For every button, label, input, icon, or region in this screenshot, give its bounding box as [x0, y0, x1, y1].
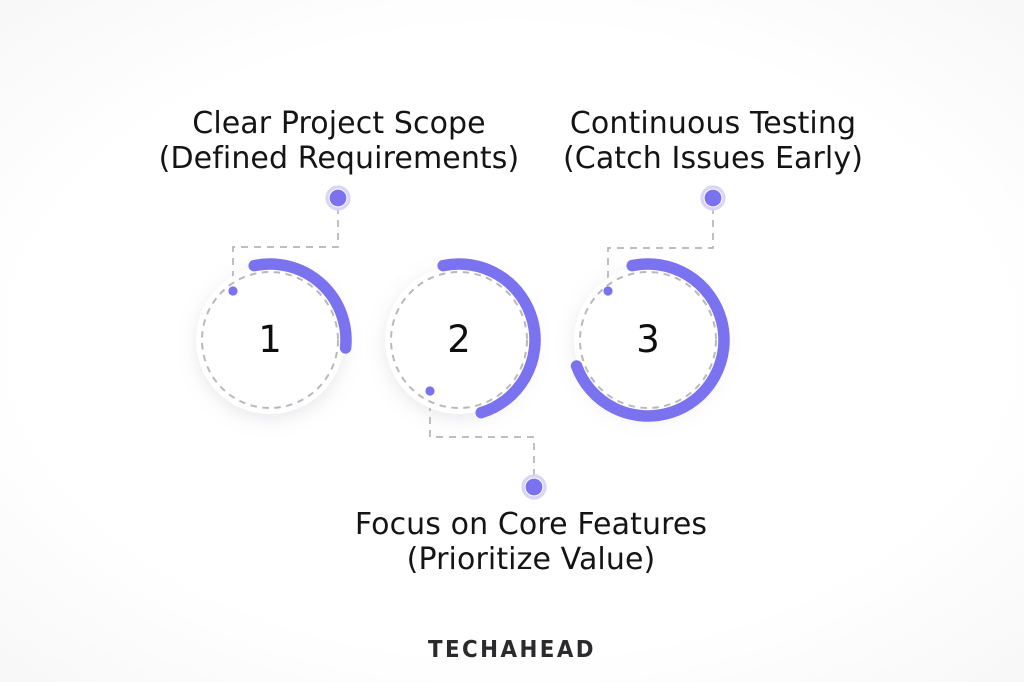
step-label-3-line2: (Catch Issues Early): [201, 141, 1024, 176]
anchor-dot-3[interactable]: [705, 190, 722, 207]
step-ring-1: [196, 187, 349, 414]
node-dot-1[interactable]: [228, 286, 237, 295]
step-ring-3: [574, 187, 724, 416]
node-dot-2[interactable]: [425, 386, 434, 395]
anchor-dot-1[interactable]: [330, 190, 347, 207]
step-number-1: 1: [230, 321, 310, 358]
step-label-2-line1: Focus on Core Features: [355, 507, 707, 542]
progress-rings-graphic: [0, 0, 1024, 682]
step-label-2-line2: (Prioritize Value): [19, 542, 1024, 577]
techahead-logo: TECHAHEAD: [36, 637, 988, 663]
step-number-2: 2: [419, 321, 499, 358]
step-label-2: Focus on Core Features (Prioritize Value…: [19, 507, 1024, 578]
anchor-dot-2[interactable]: [526, 479, 543, 496]
step-label-3-line1: Continuous Testing: [570, 106, 856, 141]
step-label-3: Continuous Testing (Catch Issues Early): [201, 106, 1024, 177]
step-number-3: 3: [608, 321, 688, 358]
step-ring-2: [385, 264, 545, 498]
infographic-canvas: Clear Project Scope (Defined Requirement…: [0, 0, 1024, 682]
node-dot-3[interactable]: [603, 286, 612, 295]
